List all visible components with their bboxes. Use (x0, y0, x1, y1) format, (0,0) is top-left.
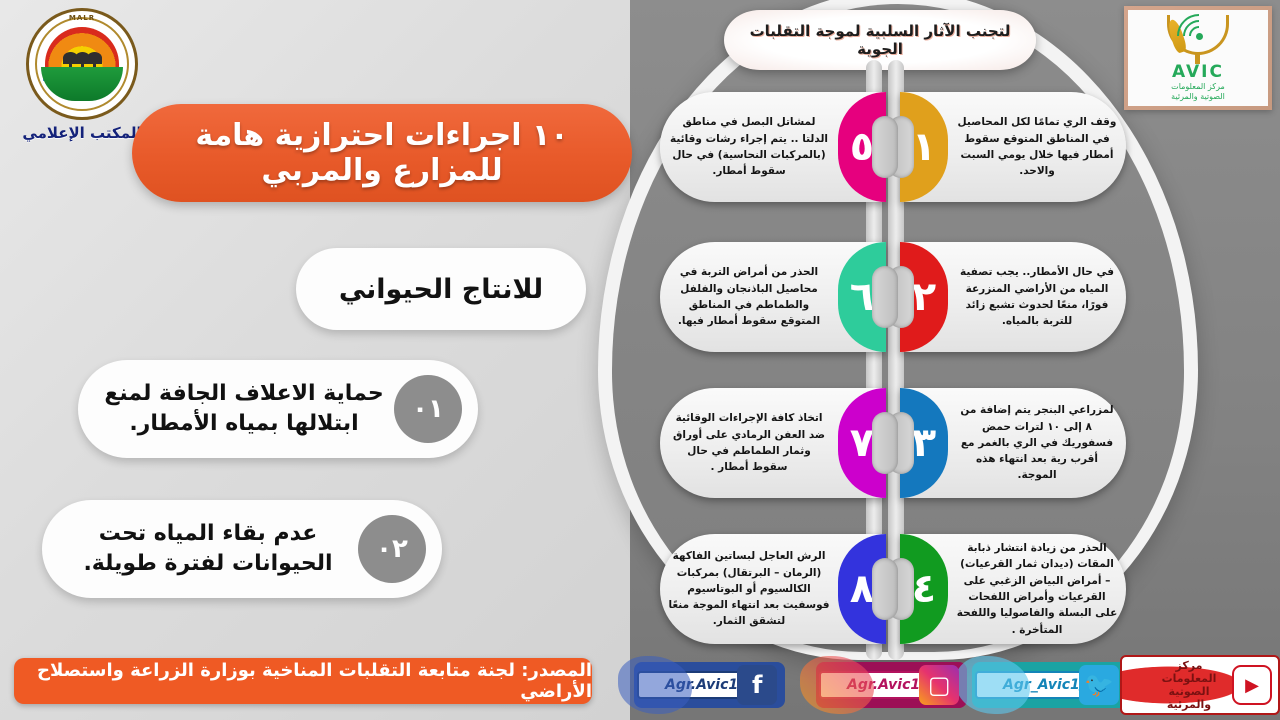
capsule-knob (872, 266, 898, 328)
crop-item-4[interactable]: الحذر من زيادة انتشار ذبابة المقات (ديدا… (900, 534, 1126, 644)
avic-broadcast-icon (1163, 15, 1233, 63)
social-link-facebook[interactable]: f /Agr.Avic1 (634, 662, 785, 708)
crop-item-text: الرش العاجل لبساتين الفاكهة (الرمان – ال… (668, 548, 830, 629)
crop-item-text: الحذر من أمراض التربة في محاصيل الباذنجا… (668, 264, 830, 329)
malr-seal-icon: MALR (26, 8, 138, 120)
crop-item-2[interactable]: في حال الأمطار.. يجب تصفية المياه من الأ… (900, 242, 1126, 352)
list-item[interactable]: ٠٢ عدم بقاء المياه تحت الحيوانات لفترة ط… (42, 500, 442, 598)
avic-logo: AVIC مركز المعلومات الصوتية والمرئية (1124, 6, 1272, 110)
item-text: عدم بقاء المياه تحت الحيوانات لفترة طويل… (64, 519, 358, 578)
page-title: ١٠ اجراءات احترازية هامة للمزارع والمربي (132, 118, 632, 188)
crop-item-7[interactable]: ٧ اتخاذ كافة الإجراءات الوقائية ضد العفن… (660, 388, 886, 498)
capsule-knob (872, 412, 898, 474)
crop-item-text: الحذر من زيادة انتشار ذبابة المقات (ديدا… (956, 540, 1118, 638)
subtitle-banner: لتجنب الآثار السلبية لموجة التقلبات الجو… (724, 10, 1036, 70)
malr-logo: MALR المكتب الإعلامي (12, 6, 152, 146)
capsule-knob (872, 558, 898, 620)
crop-item-3[interactable]: لمزراعي البنجر يتم إضافة من ٨ إلى ١٠ لتر… (900, 388, 1126, 498)
avic-subtitle: مركز المعلومات الصوتية والمرئية (1171, 82, 1225, 102)
crop-item-8[interactable]: ٨ الرش العاجل لبساتين الفاكهة (الرمان – … (660, 534, 886, 644)
youtube-icon: ▶ (1232, 665, 1272, 705)
page-title-banner: ١٠ اجراءات احترازية هامة للمزارع والمربي (132, 104, 632, 202)
crop-item-6[interactable]: ٦ الحذر من أمراض التربة في محاصيل الباذن… (660, 242, 886, 352)
crop-item-5[interactable]: ٥ لمشاتل البصل في مناطق الدلتا .. يتم إج… (660, 92, 886, 202)
social-link-twitter[interactable]: 🐦 /Agr_Avic1 (972, 662, 1127, 708)
facebook-icon: f (737, 665, 777, 705)
crop-item-text: وقف الري تمامًا لكل المحاصيل في المناطق … (956, 114, 1118, 179)
twitter-icon: 🐦 (1079, 665, 1119, 705)
social-link-youtube[interactable]: ▶ مركز المعلومات الصوتية والمرئية (1120, 662, 1280, 708)
livestock-section-pill: للانتاج الحيواني (296, 248, 586, 330)
item-number-badge: ٠٢ (358, 515, 426, 583)
malr-caption: المكتب الإعلامي (12, 124, 152, 142)
youtube-handle: مركز المعلومات الصوتية والمرئية (1124, 659, 1238, 712)
instagram-icon: ▢ (919, 665, 959, 705)
list-item[interactable]: ٠١ حماية الاعلاف الجافة لمنع ابتلالها بم… (78, 360, 478, 458)
crop-item-1[interactable]: وقف الري تمامًا لكل المحاصيل في المناطق … (900, 92, 1126, 202)
livestock-section-label: للانتاج الحيواني (339, 274, 543, 305)
subtitle-text: لتجنب الآثار السلبية لموجة التقلبات الجو… (724, 22, 1036, 58)
source-text: المصدر: لجنة متابعة التقلبات المناخية بو… (14, 660, 592, 702)
social-link-instagram[interactable]: ▢ /Agr.Avic1 (816, 662, 967, 708)
capsule-knob (872, 116, 898, 178)
seal-top-text: MALR (29, 14, 135, 22)
source-bar: المصدر: لجنة متابعة التقلبات المناخية بو… (14, 658, 592, 704)
item-text: حماية الاعلاف الجافة لمنع ابتلالها بمياه… (100, 379, 394, 438)
crop-item-text: اتخاذ كافة الإجراءات الوقائية ضد العفن ا… (668, 410, 830, 475)
crop-item-text: لمزراعي البنجر يتم إضافة من ٨ إلى ١٠ لتر… (956, 402, 1118, 483)
crop-item-text: لمشاتل البصل في مناطق الدلتا .. يتم إجرا… (668, 114, 830, 179)
item-number-badge: ٠١ (394, 375, 462, 443)
crop-item-text: في حال الأمطار.. يجب تصفية المياه من الأ… (956, 264, 1118, 329)
avic-wordmark: AVIC (1172, 64, 1224, 81)
